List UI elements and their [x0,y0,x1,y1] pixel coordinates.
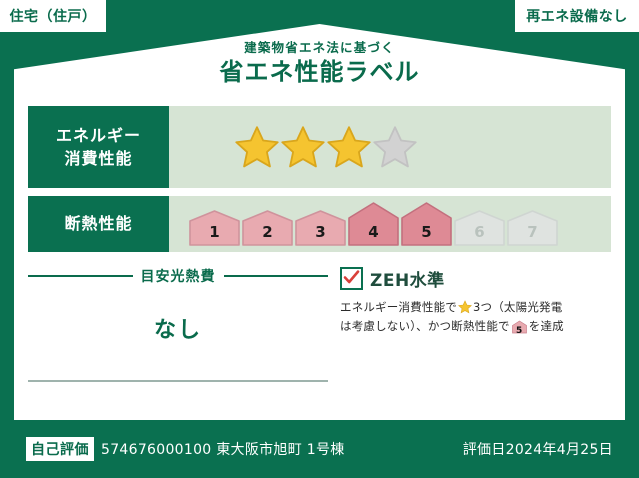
label-card: エネルギー 消費性能 断熱性能 1234567 目安光熱費 [14,96,625,420]
insulation-level-number: 7 [507,223,558,241]
insulation-level-number: 5 [401,223,452,241]
roof-shape [14,24,625,102]
zeh-description: エネルギー消費性能で3つ（太陽光発電 は考慮しない）、かつ断熱性能で5を達成 [340,298,611,339]
row-insulation-performance: 断熱性能 1234567 [28,196,611,252]
star-icon-filled [327,125,371,169]
footer-id-address: 574676000100 東大阪市旭町 1号棟 [101,439,345,459]
insulation-level-number: 3 [295,223,346,241]
utility-cost-header: 目安光熱費 [28,266,328,286]
house-icon-inline-number: 5 [512,324,527,339]
zeh-desc-part1: エネルギー消費性能で [340,300,457,314]
divider-line-left [28,275,133,277]
lower-section: 目安光熱費 なし ZEH水準 エネルギー消費性能で3つ（太陽光発電 [28,266,611,382]
zeh-desc-part2: 3つ（太陽光発電 [473,300,562,314]
energy-performance-label: エネルギー 消費性能 [28,106,169,188]
star-icon-filled [281,125,325,169]
insulation-level-5: 5 [401,202,452,246]
energy-label-root: 住宅（住戸） 再エネ設備なし 建築物省エネ法に基づく 省エネ性能ラベル エネルギ… [0,0,639,478]
zeh-desc-part3: は考慮しない）、かつ断熱性能で [340,319,510,333]
insulation-scale: 1234567 [189,202,558,246]
footer: 自己評価 574676000100 東大阪市旭町 1号棟 評価日2024年4月2… [0,420,639,478]
insulation-level-number: 4 [348,223,399,241]
insulation-level-number: 2 [242,223,293,241]
energy-label-line2: 消費性能 [56,147,141,170]
badge-building-type: 住宅（住戸） [0,0,106,32]
utility-cost-block: 目安光熱費 なし [28,266,328,382]
insulation-level-4: 4 [348,202,399,246]
utility-cost-value: なし [28,312,328,344]
row-energy-performance: エネルギー 消費性能 [28,106,611,188]
zeh-block: ZEH水準 エネルギー消費性能で3つ（太陽光発電 は考慮しない）、かつ断熱性能で… [328,266,611,382]
footer-evaluation-badge: 自己評価 [26,437,94,461]
zeh-desc-part4: を達成 [529,319,564,333]
house-icon-inline: 5 [512,320,527,340]
insulation-level-7: 7 [507,210,558,246]
insulation-performance-value: 1234567 [169,196,611,252]
insulation-level-3: 3 [295,210,346,246]
insulation-level-number: 6 [454,223,505,241]
star-rating [235,125,417,169]
star-icon-empty [373,125,417,169]
energy-label-line1: エネルギー [56,124,141,147]
zeh-title: ZEH水準 [370,266,445,291]
insulation-level-1: 1 [189,210,240,246]
bottom-divider [28,380,328,382]
badge-renewable-energy: 再エネ設備なし [515,0,639,32]
insulation-level-number: 1 [189,223,240,241]
zeh-checkbox[interactable] [340,267,363,290]
utility-cost-header-text: 目安光熱費 [141,266,216,286]
energy-performance-value [169,106,611,188]
divider-line-right [224,275,329,277]
star-icon-filled [235,125,279,169]
check-icon [343,269,360,286]
insulation-performance-label: 断熱性能 [28,196,169,252]
star-icon-inline [458,300,472,314]
insulation-level-6: 6 [454,210,505,246]
footer-evaluation-date: 評価日2024年4月25日 [463,439,613,459]
insulation-level-2: 2 [242,210,293,246]
zeh-header: ZEH水準 [340,266,611,291]
